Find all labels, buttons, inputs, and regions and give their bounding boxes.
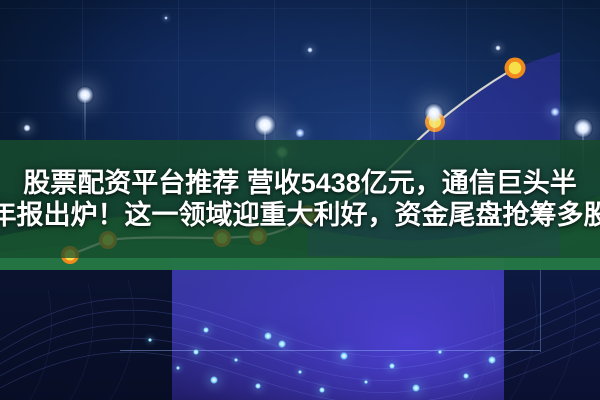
headline-line-2: 年报出炉！这一领域迎重大利好，资金尾盘抢筹多股	[0, 200, 600, 231]
headline-line-1: 股票配资平台推荐 营收5438亿元，通信巨头半	[23, 168, 577, 199]
news-banner: 股票配资平台推荐 营收5438亿元，通信巨头半 年报出炉！这一领域迎重大利好，资…	[0, 0, 600, 400]
headline-text-block: 股票配资平台推荐 营收5438亿元，通信巨头半 年报出炉！这一领域迎重大利好，资…	[0, 140, 600, 258]
